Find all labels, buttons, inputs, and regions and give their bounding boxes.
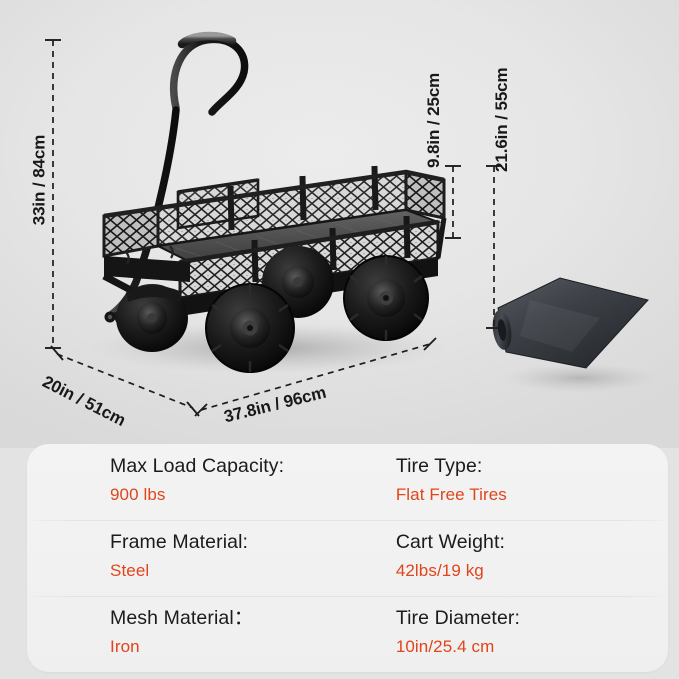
spec-value: 42lbs/19 kg bbox=[396, 558, 668, 584]
spec-value: 900 lbs bbox=[110, 482, 396, 508]
spec-cell-mesh-material: Mesh Material： Iron bbox=[110, 605, 396, 660]
spec-label: Tire Diameter: bbox=[396, 605, 668, 632]
spec-value: Steel bbox=[110, 558, 396, 584]
spec-value: 10in/25.4 cm bbox=[396, 634, 668, 660]
spec-value: Flat Free Tires bbox=[396, 482, 668, 508]
dimension-label-height: 33in / 84cm bbox=[29, 135, 49, 226]
spec-cell-tire-type: Tire Type: Flat Free Tires bbox=[396, 453, 668, 508]
spec-label: Cart Weight: bbox=[396, 529, 668, 556]
spec-row: Max Load Capacity: 900 lbs Tire Type: Fl… bbox=[27, 444, 668, 520]
spec-label: Mesh Material： bbox=[110, 605, 396, 632]
product-hero-area: 33in / 84cm 20in / 51cm 37.8in / 96cm 9.… bbox=[0, 0, 679, 448]
spec-cell-max-load: Max Load Capacity: 900 lbs bbox=[110, 453, 396, 508]
dimension-guides bbox=[0, 0, 679, 448]
specifications-card: Max Load Capacity: 900 lbs Tire Type: Fl… bbox=[27, 444, 668, 672]
dimension-label-bed-height: 9.8in / 25cm bbox=[424, 73, 444, 168]
product-infographic: 33in / 84cm 20in / 51cm 37.8in / 96cm 9.… bbox=[0, 0, 679, 679]
spec-row: Mesh Material： Iron Tire Diameter: 10in/… bbox=[27, 596, 668, 672]
spec-cell-cart-weight: Cart Weight: 42lbs/19 kg bbox=[396, 529, 668, 584]
spec-label: Frame Material: bbox=[110, 529, 396, 556]
spec-cell-tire-diameter: Tire Diameter: 10in/25.4 cm bbox=[396, 605, 668, 660]
spec-value: Iron bbox=[110, 634, 396, 660]
spec-row: Frame Material: Steel Cart Weight: 42lbs… bbox=[27, 520, 668, 596]
spec-cell-frame-material: Frame Material: Steel bbox=[110, 529, 396, 584]
spec-label: Tire Type: bbox=[396, 453, 668, 480]
spec-label: Max Load Capacity: bbox=[110, 453, 396, 480]
dimension-label-total-height: 21.6in / 55cm bbox=[492, 67, 512, 172]
